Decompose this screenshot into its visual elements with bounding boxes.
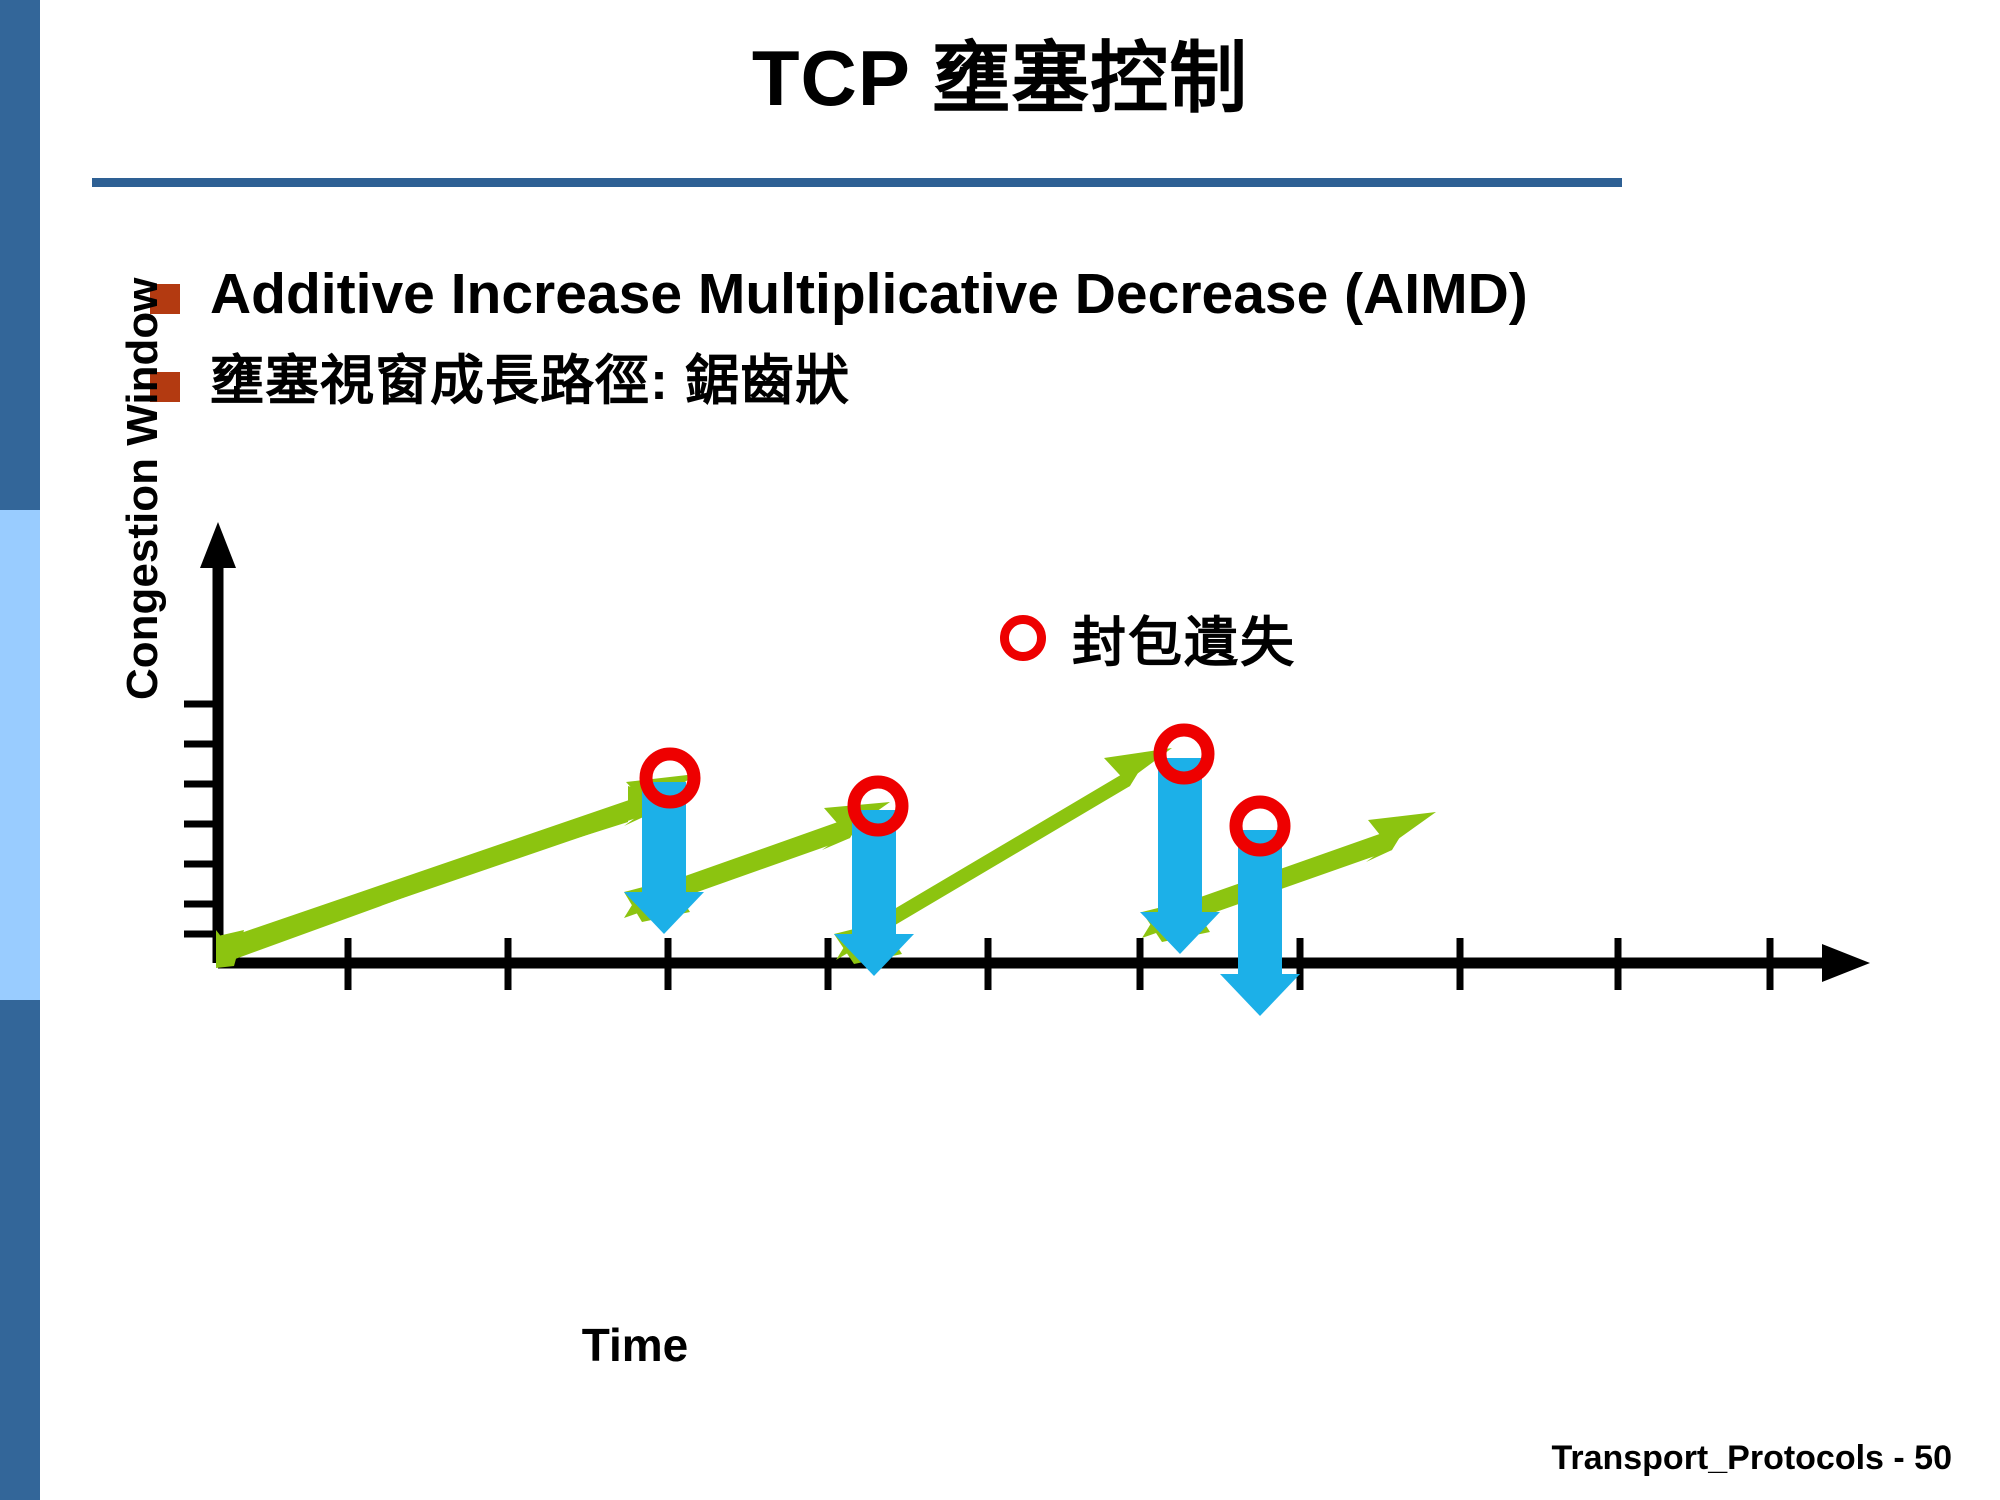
- increase-arrow-1-body: [222, 786, 670, 960]
- slide-title: TCP 壅塞控制: [90, 38, 1910, 120]
- list-item: Additive Increase Multiplicative Decreas…: [150, 262, 1930, 328]
- decrease-arrow-4: [1220, 830, 1300, 1016]
- x-axis-arrowhead: [1822, 944, 1870, 982]
- x-axis-label: Time: [0, 1318, 1270, 1372]
- slide-footer: Transport_Protocols - 50: [1551, 1439, 1952, 1478]
- list-item: 壅塞視窗成長路徑: 鋸齒狀: [150, 350, 1930, 412]
- y-axis-arrowhead: [200, 522, 236, 568]
- decrease-arrow-3: [1140, 758, 1220, 954]
- sidebar-segment-middle: [0, 510, 40, 1000]
- aimd-sawtooth-chart: [130, 520, 1920, 1160]
- sidebar-segment-top: [0, 0, 40, 510]
- axis-group: [200, 522, 1870, 982]
- bullet-list: Additive Increase Multiplicative Decreas…: [150, 262, 1930, 434]
- sidebar-segment-bottom: [0, 1000, 40, 1500]
- bullet-text-1: Additive Increase Multiplicative Decreas…: [210, 262, 1528, 328]
- multiplicative-decrease-arrows: [624, 758, 1300, 1016]
- y-axis-label: Congestion Window: [118, 278, 168, 700]
- decorative-sidebar: [0, 0, 40, 1500]
- bullet-text-2: 壅塞視窗成長路徑: 鋸齒狀: [210, 350, 850, 412]
- title-divider: [92, 178, 1622, 187]
